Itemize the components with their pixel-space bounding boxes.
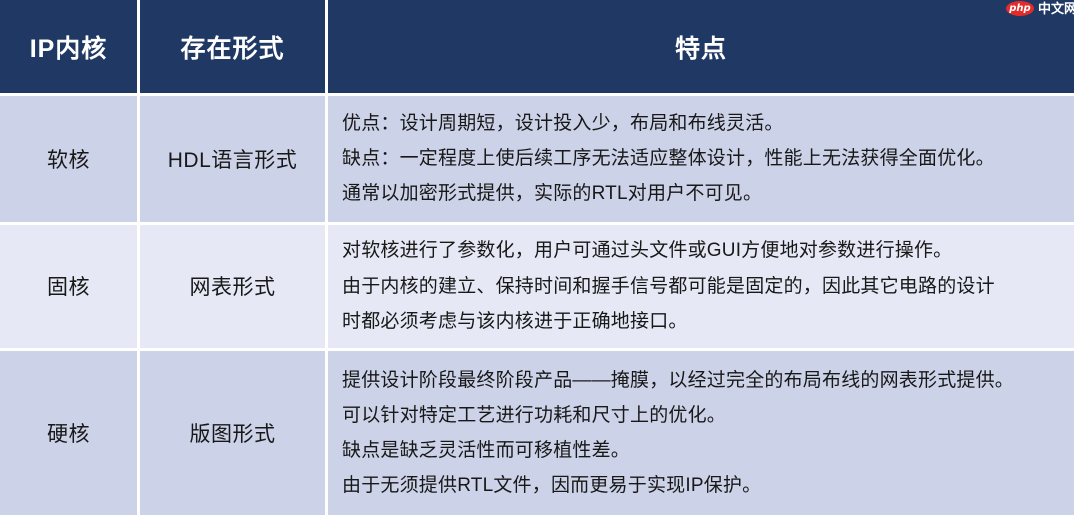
table-row: 固核 网表形式 对软核进行了参数化，用户可通过头文件或GUI方便地对参数进行操作… bbox=[0, 225, 1074, 348]
feature-line: 提供设计阶段最终阶段产品——掩膜，以经过完全的布局布线的网表形式提供。 bbox=[342, 363, 1060, 398]
cell-core-type: 硬核 bbox=[0, 351, 137, 515]
table-header-row: IP内核 存在形式 特点 bbox=[0, 0, 1074, 93]
feature-line: 由于内核的建立、保持时间和握手信号都可能是固定的，因此其它电路的设计 bbox=[342, 269, 1060, 304]
feature-line: 可以针对特定工艺进行功耗和尺寸上的优化。 bbox=[342, 398, 1060, 433]
header-cell-ip-core: IP内核 bbox=[0, 0, 137, 93]
header-cell-existence-form: 存在形式 bbox=[140, 0, 325, 93]
ip-core-comparison-table: IP内核 存在形式 特点 软核 HDL语言形式 优点：设计周期短，设计投入少，布… bbox=[0, 0, 1077, 518]
cell-existence-form: 网表形式 bbox=[140, 225, 325, 348]
feature-line: 缺点：一定程度上使后续工序无法适应整体设计，性能上无法获得全面优化。 bbox=[342, 141, 1060, 176]
cell-characteristics: 提供设计阶段最终阶段产品——掩膜，以经过完全的布局布线的网表形式提供。 可以针对… bbox=[328, 351, 1074, 515]
cell-existence-form: HDL语言形式 bbox=[140, 96, 325, 222]
table-header: IP内核 存在形式 特点 bbox=[0, 0, 1074, 93]
feature-line-list: 提供设计阶段最终阶段产品——掩膜，以经过完全的布局布线的网表形式提供。 可以针对… bbox=[342, 363, 1060, 504]
feature-line: 对软核进行了参数化，用户可通过头文件或GUI方便地对参数进行操作。 bbox=[342, 233, 1060, 268]
cell-characteristics: 对软核进行了参数化，用户可通过头文件或GUI方便地对参数进行操作。 由于内核的建… bbox=[328, 225, 1074, 348]
table-row: 软核 HDL语言形式 优点：设计周期短，设计投入少，布局和布线灵活。 缺点：一定… bbox=[0, 96, 1074, 222]
cell-core-type: 固核 bbox=[0, 225, 137, 348]
table-row: 硬核 版图形式 提供设计阶段最终阶段产品——掩膜，以经过完全的布局布线的网表形式… bbox=[0, 351, 1074, 515]
cell-core-type: 软核 bbox=[0, 96, 137, 222]
cell-characteristics: 优点：设计周期短，设计投入少，布局和布线灵活。 缺点：一定程度上使后续工序无法适… bbox=[328, 96, 1074, 222]
feature-line: 优点：设计周期短，设计投入少，布局和布线灵活。 bbox=[342, 106, 1060, 141]
feature-line: 通常以加密形式提供，实际的RTL对用户不可见。 bbox=[342, 176, 1060, 211]
feature-line: 缺点是缺乏灵活性而可移植性差。 bbox=[342, 433, 1060, 468]
feature-line-list: 优点：设计周期短，设计投入少，布局和布线灵活。 缺点：一定程度上使后续工序无法适… bbox=[342, 106, 1060, 211]
cell-existence-form: 版图形式 bbox=[140, 351, 325, 515]
feature-line: 由于无须提供RTL文件，因而更易于实现IP保护。 bbox=[342, 468, 1060, 503]
feature-line: 时都必须考虑与该内核进于正确地接口。 bbox=[342, 304, 1060, 339]
table-body: 软核 HDL语言形式 优点：设计周期短，设计投入少，布局和布线灵活。 缺点：一定… bbox=[0, 96, 1074, 515]
feature-line-list: 对软核进行了参数化，用户可通过头文件或GUI方便地对参数进行操作。 由于内核的建… bbox=[342, 233, 1060, 338]
header-cell-characteristics: 特点 bbox=[328, 0, 1074, 93]
